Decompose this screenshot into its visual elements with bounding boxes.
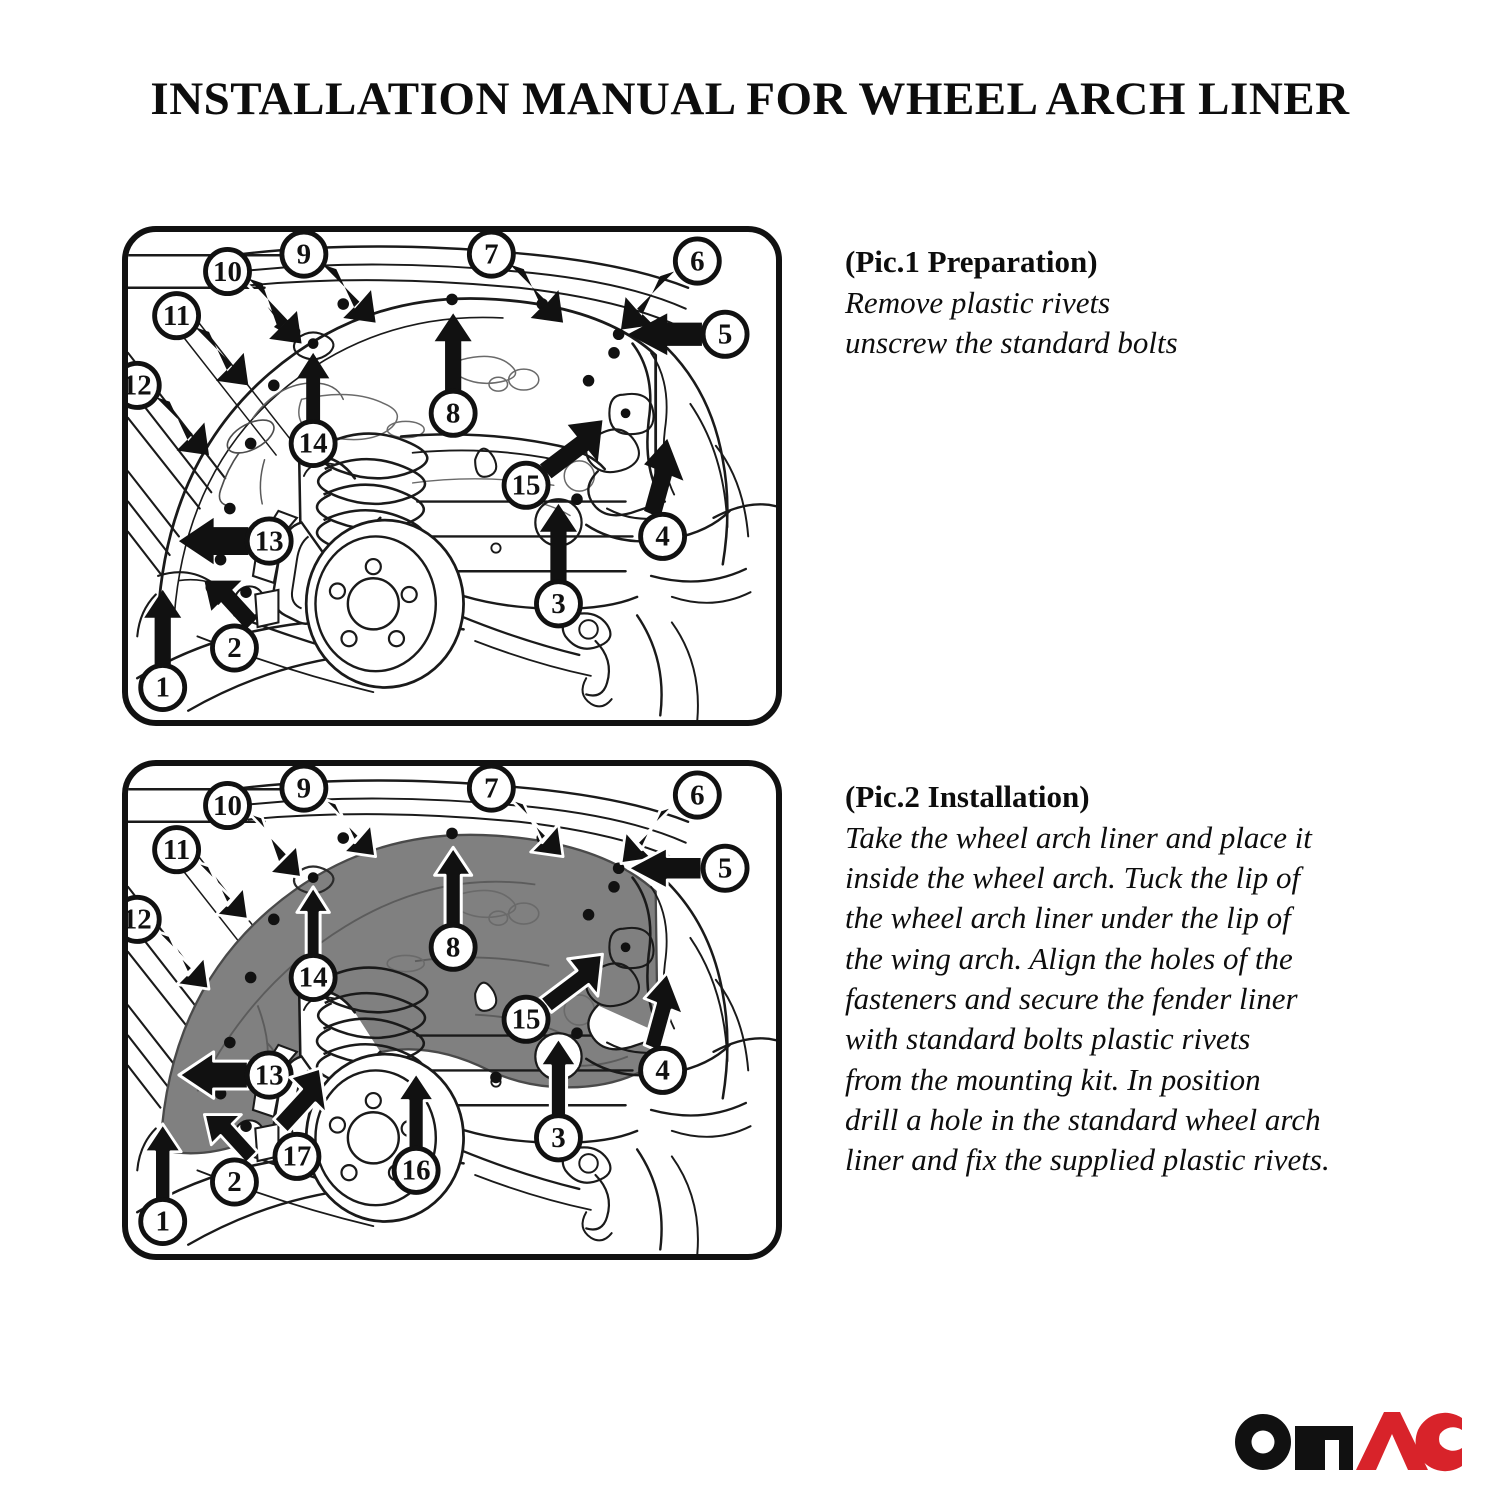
svg-text:4: 4	[655, 1055, 669, 1087]
callout-13: 13	[179, 518, 291, 564]
svg-text:12: 12	[128, 370, 152, 402]
logo-letter-o	[1235, 1414, 1291, 1470]
callout-6: 6	[621, 239, 719, 330]
svg-text:1: 1	[155, 1206, 169, 1238]
svg-text:2: 2	[227, 1166, 241, 1198]
pic1-heading: (Pic.1 Preparation)	[845, 243, 1445, 281]
instructions-pic-2: (Pic.2 Installation) Take the wheel arch…	[845, 778, 1445, 1180]
pic2-line-4: the wing arch. Align the holes of the	[845, 939, 1445, 979]
pic2-heading: (Pic.2 Installation)	[845, 778, 1445, 816]
svg-text:11: 11	[163, 300, 190, 332]
svg-text:7: 7	[484, 772, 498, 804]
svg-text:8: 8	[446, 932, 460, 964]
svg-text:3: 3	[551, 1122, 565, 1154]
svg-text:13: 13	[255, 525, 284, 557]
callout-3: 3	[536, 504, 580, 626]
svg-text:6: 6	[690, 245, 704, 277]
svg-text:6: 6	[690, 779, 704, 811]
svg-text:8: 8	[446, 398, 460, 430]
callout-14: 14	[291, 353, 335, 466]
pic2-line-2: inside the wheel arch. Tuck the lip of	[845, 858, 1445, 898]
svg-text:10: 10	[213, 790, 242, 822]
callout-6: 6	[621, 773, 719, 864]
svg-text:4: 4	[655, 521, 669, 553]
svg-text:7: 7	[484, 238, 498, 270]
pic2-line-5: fasteners and secure the fender liner	[845, 979, 1445, 1019]
instructions-pic-1: (Pic.1 Preparation) Remove plastic rivet…	[845, 243, 1445, 363]
callout-1: 1	[141, 590, 185, 710]
pic2-line-6: with standard bolts plastic rivets	[845, 1019, 1445, 1059]
pic2-line-8: drill a hole in the standard wheel arch	[845, 1100, 1445, 1140]
callout-7: 7	[469, 232, 563, 323]
callout-12: 12	[128, 897, 209, 989]
callout-8: 8	[431, 313, 475, 435]
callout-11: 11	[155, 828, 249, 920]
pic2-line-3: the wheel arch liner under the lip of	[845, 898, 1445, 938]
svg-text:5: 5	[718, 852, 732, 884]
svg-text:14: 14	[299, 428, 328, 460]
figure-pic-1: 10 9 7 6 5	[122, 226, 782, 726]
svg-text:5: 5	[718, 318, 732, 350]
page-title: INSTALLATION MANUAL FOR WHEEL ARCH LINER	[0, 72, 1500, 126]
svg-text:15: 15	[512, 1004, 541, 1036]
svg-text:11: 11	[163, 834, 190, 866]
pic2-line-1: Take the wheel arch liner and place it	[845, 818, 1445, 858]
svg-text:1: 1	[155, 672, 169, 704]
svg-text:17: 17	[282, 1141, 311, 1173]
pic1-line-2: unscrew the standard bolts	[845, 323, 1445, 363]
callout-12: 12	[128, 363, 209, 455]
svg-text:14: 14	[299, 962, 328, 994]
svg-text:12: 12	[128, 904, 152, 936]
figure-pic-2: 10 9 7 6 5	[122, 760, 782, 1260]
callout-11: 11	[155, 294, 249, 386]
svg-text:16: 16	[402, 1155, 431, 1187]
svg-text:15: 15	[512, 470, 541, 502]
svg-text:9: 9	[297, 772, 311, 804]
svg-text:3: 3	[551, 588, 565, 620]
pic2-line-7: from the mounting kit. In position	[845, 1060, 1445, 1100]
omac-logo	[1232, 1404, 1462, 1476]
svg-text:2: 2	[227, 632, 241, 664]
pic2-line-9: liner and fix the supplied plastic rivet…	[845, 1140, 1445, 1180]
logo-letter-m	[1295, 1426, 1353, 1470]
svg-text:9: 9	[297, 238, 311, 270]
svg-text:13: 13	[255, 1059, 284, 1091]
svg-text:10: 10	[213, 256, 242, 288]
pic1-line-1: Remove plastic rivets	[845, 283, 1445, 323]
